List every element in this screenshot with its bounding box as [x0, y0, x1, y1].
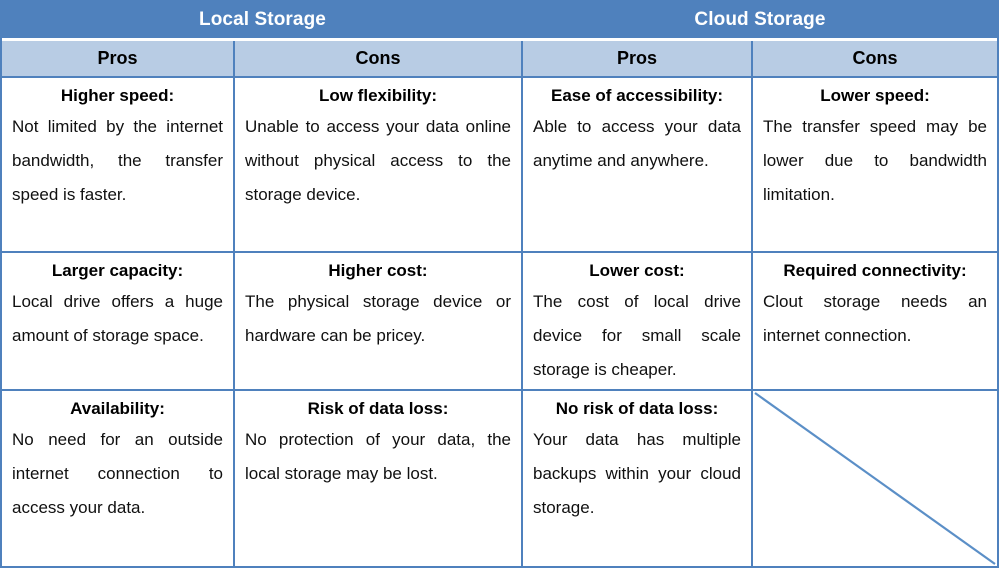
- table-cell: No risk of data loss: Your data has mult…: [523, 391, 753, 566]
- cell-body: Not limited by the internet bandwidth, t…: [12, 110, 223, 212]
- table-cell: Required connectivity: Clout storage nee…: [753, 253, 997, 389]
- cell-body: The transfer speed may be lower due to b…: [763, 110, 987, 212]
- table-group-header-row: Local Storage Cloud Storage: [2, 2, 997, 38]
- cell-title: Required connectivity:: [763, 258, 987, 284]
- cell-body: No protection of your data, the local st…: [245, 423, 511, 491]
- column-header-local-pros: Pros: [2, 41, 235, 76]
- cell-title: Higher speed:: [12, 83, 223, 109]
- column-header-local-cons: Cons: [235, 41, 523, 76]
- cell-title: Lower cost:: [533, 258, 741, 284]
- comparison-table: Local Storage Cloud Storage Pros Cons Pr…: [0, 0, 999, 568]
- column-header-cloud-pros: Pros: [523, 41, 753, 76]
- table-column-header-row: Pros Cons Pros Cons: [2, 41, 997, 78]
- table-cell: Ease of accessibility: Able to access yo…: [523, 78, 753, 251]
- cell-body: The physical storage device or hardware …: [245, 285, 511, 353]
- cell-body: Your data has multiple backups within yo…: [533, 423, 741, 525]
- table-cell: Lower cost: The cost of local drive devi…: [523, 253, 753, 389]
- cell-body: No need for an outside internet connecti…: [12, 423, 223, 525]
- cell-title: Risk of data loss:: [245, 396, 511, 422]
- cell-title: Availability:: [12, 396, 223, 422]
- cell-title: No risk of data loss:: [533, 396, 741, 422]
- table-cell: Higher speed: Not limited by the interne…: [2, 78, 235, 251]
- cell-title: Lower speed:: [763, 83, 987, 109]
- table-cell: Risk of data loss: No protection of your…: [235, 391, 523, 566]
- cell-title: Ease of accessibility:: [533, 83, 741, 109]
- table-cell: Low flexibility: Unable to access your d…: [235, 78, 523, 251]
- cell-body: Able to access your data anytime and any…: [533, 110, 741, 178]
- table-cell: Availability: No need for an outside int…: [2, 391, 235, 566]
- cell-title: Low flexibility:: [245, 83, 511, 109]
- table-cell: Higher cost: The physical storage device…: [235, 253, 523, 389]
- table-cell: Larger capacity: Local drive offers a hu…: [2, 253, 235, 389]
- table-row: Availability: No need for an outside int…: [2, 391, 997, 566]
- cell-body: Local drive offers a huge amount of stor…: [12, 285, 223, 353]
- cell-title: Larger capacity:: [12, 258, 223, 284]
- table-row: Larger capacity: Local drive offers a hu…: [2, 253, 997, 391]
- cell-title: Higher cost:: [245, 258, 511, 284]
- cell-body: Clout storage needs an internet connecti…: [763, 285, 987, 353]
- cell-body: Unable to access your data online withou…: [245, 110, 511, 212]
- group-header-cloud-storage: Cloud Storage: [523, 2, 997, 38]
- table-cell-empty: [753, 391, 997, 566]
- group-header-local-storage: Local Storage: [2, 2, 523, 38]
- diagonal-strike-icon: [753, 391, 997, 566]
- table-row: Higher speed: Not limited by the interne…: [2, 78, 997, 253]
- cell-body: The cost of local drive device for small…: [533, 285, 741, 387]
- column-header-cloud-cons: Cons: [753, 41, 997, 76]
- table-cell: Lower speed: The transfer speed may be l…: [753, 78, 997, 251]
